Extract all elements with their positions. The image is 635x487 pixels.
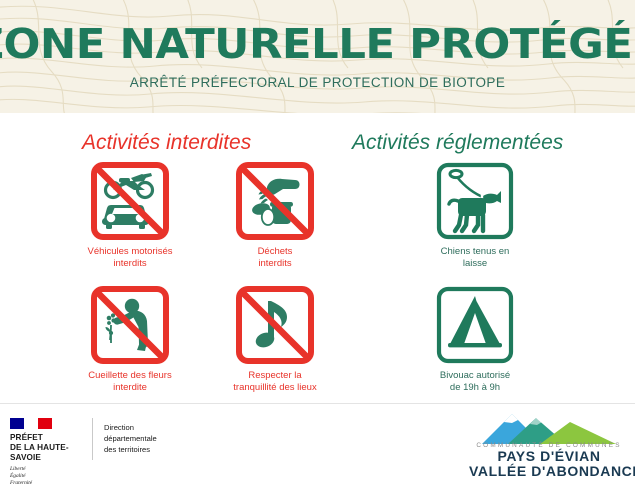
tile-caption: Bivouac autorisé de 19h à 9h (400, 370, 550, 394)
no-motor-vehicles-icon (90, 161, 170, 241)
no-litter-icon (235, 161, 315, 241)
no-flower-picking-icon (90, 285, 170, 365)
community-name-line1: PAYS D'ÉVIAN (469, 449, 629, 464)
column-heading-forbidden: Activités interdites (82, 131, 251, 155)
community-logo: COMMUNAUTÉ DE COMMUNES PAYS D'ÉVIAN VALL… (469, 410, 629, 479)
tile-caption: Respecter la tranquillité des lieux (200, 370, 350, 394)
tile-caption: Cueillette des fleurs interdite (55, 370, 205, 394)
page-subtitle: ARRÊTÉ PRÉFECTORAL DE PROTECTION DE BIOT… (130, 75, 506, 90)
dog-on-leash-icon (435, 161, 515, 241)
tile-caption: Véhicules motorisés interdits (55, 246, 205, 270)
mountains-icon (474, 410, 624, 444)
prefecture-name: PRÉFET DE LA HAUTE- SAVOIE (10, 433, 82, 463)
tile-caption: Chiens tenus en laisse (400, 246, 550, 270)
footer-divider (92, 418, 93, 460)
no-noise-music-note-icon (235, 285, 315, 365)
page-title: ZONE NATURELLE PROTÉGÉE (0, 24, 635, 65)
main-content: Activités interdites Activités réglement… (0, 113, 635, 403)
header-banner: ZONE NATURELLE PROTÉGÉE ARRÊTÉ PRÉFECTOR… (0, 0, 635, 113)
pictogram-tile-dog-on-leash: Chiens tenus en laisse (400, 161, 550, 270)
republic-motto: Liberté Égalité Fraternité (10, 466, 82, 487)
column-heading-regulated: Activités réglementées (352, 131, 563, 155)
prefecture-logo: PRÉFET DE LA HAUTE- SAVOIE Liberté Égali… (10, 418, 82, 487)
pictogram-tile-no-litter: Déchets interdits (200, 161, 350, 270)
pictogram-tile-bivouac: Bivouac autorisé de 19h à 9h (400, 285, 550, 394)
direction-departementale-label: Direction départementale des territoires (104, 422, 157, 455)
tile-caption: Déchets interdits (200, 246, 350, 270)
pictogram-tile-no-flower-picking: Cueillette des fleurs interdite (55, 285, 205, 394)
tent-bivouac-icon (435, 285, 515, 365)
pictogram-tile-no-vehicles: Véhicules motorisés interdits (55, 161, 205, 270)
community-name-line2: VALLÉE D'ABONDANCE (469, 464, 629, 479)
french-flag-icon (10, 418, 52, 429)
footer: PRÉFET DE LA HAUTE- SAVOIE Liberté Égali… (0, 403, 635, 477)
pictogram-tile-quiet: Respecter la tranquillité des lieux (200, 285, 350, 394)
